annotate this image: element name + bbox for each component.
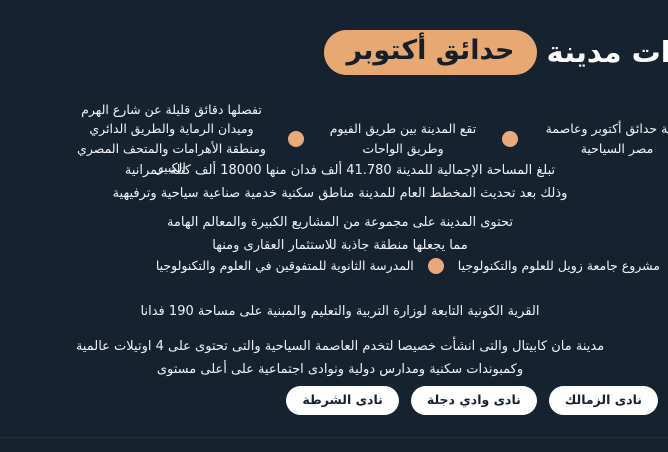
page-title-badge: حدائق أكتوبر [324, 30, 536, 75]
footer-strip [0, 438, 668, 452]
paragraph-projects: تحتوى المدينة على مجموعة من المشاريع الك… [0, 212, 668, 258]
paragraph-man-capital: مدينة مان كابيتال والتى انشأت خصيصا لتخد… [0, 336, 668, 382]
chip-club-wadi-degla[interactable]: نادى وادي دجلة [411, 386, 537, 415]
page-title-prefix: مميزات مدينة [547, 37, 668, 69]
education-item-1: مشروع جامعة زويل للعلوم والتكنولوجيا [458, 256, 660, 275]
feature-item-1: مدينة حدائق أكتوبر وعاصمة مصر السياحية [532, 119, 668, 158]
paragraph-kony-village: القرية الكونية التابعة لوزارة التربية وا… [0, 301, 668, 324]
slide-root: مميزات مدينة حدائق أكتوبر مدينة حدائق أك… [0, 0, 668, 452]
page-title: مميزات مدينة حدائق أكتوبر [0, 30, 668, 75]
education-item-2: المدرسة الثانوية للمتفوقين في العلوم وال… [156, 256, 414, 275]
bullet-dot-icon [428, 258, 444, 274]
education-row: مشروع جامعة زويل للعلوم والتكنولوجيا الم… [0, 256, 660, 275]
chip-club-zamalek[interactable]: نادى الزمالك [549, 386, 658, 415]
feature-item-2: تقع المدينة بين طريق الفيوم وطريق الواحا… [318, 119, 488, 158]
paragraph-area: تبلغ المساحة الإجمالية للمدينة 41.780 أل… [0, 160, 668, 206]
bullet-dot-icon [502, 131, 518, 147]
chip-club-police[interactable]: نادى الشرطة [286, 386, 398, 415]
clubs-chip-row: نادى الزمالك نادى وادي دجلة نادى الشرطة [0, 386, 664, 415]
footer-divider [0, 437, 668, 438]
bullet-dot-icon [288, 131, 304, 147]
